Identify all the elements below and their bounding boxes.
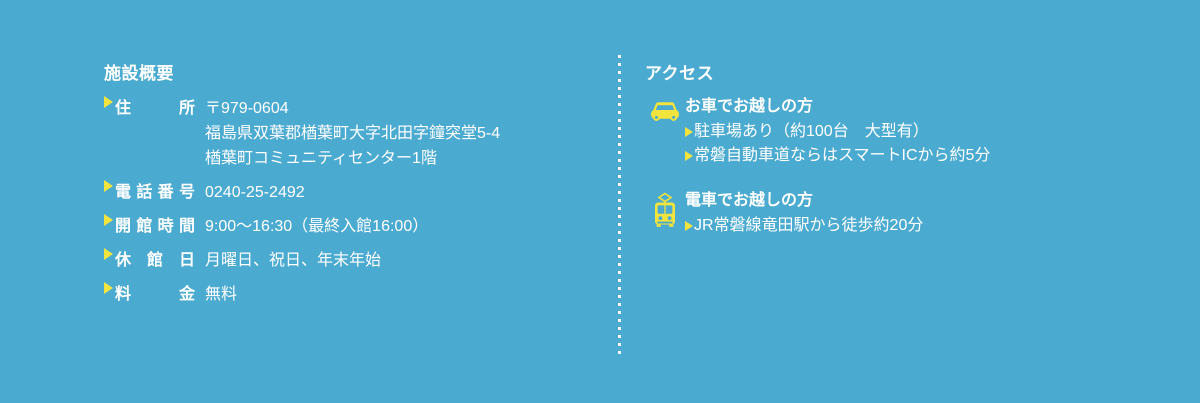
access-block-train: 電車でお越しの方 JR常磐線竜田駅から徒歩約20分: [645, 190, 1165, 238]
info-label-fee: 料 金: [115, 282, 195, 307]
bullet-triangle-icon: [104, 248, 113, 260]
info-panel: 施設概要 住 所 〒979-0604 福島県双葉郡楢葉町大字北田字鐘突堂5-4 …: [0, 0, 1200, 403]
access-body-car: お車でお越しの方 駐車場あり（約100台 大型有） 常磐自動車道ならはスマートI…: [685, 96, 1165, 168]
label-char: 休: [115, 248, 131, 273]
column-divider: [618, 55, 621, 355]
label-char: 開: [115, 214, 131, 239]
label-char: 日: [179, 248, 195, 273]
label-char: 料: [115, 282, 131, 307]
info-label-closed-days: 休 館 日: [115, 248, 195, 273]
access-item-label: JR常磐線竜田駅から徒歩約20分: [694, 214, 923, 238]
access-block-car: お車でお越しの方 駐車場あり（約100台 大型有） 常磐自動車道ならはスマートI…: [645, 96, 1165, 168]
access-body-train: 電車でお越しの方 JR常磐線竜田駅から徒歩約20分: [685, 190, 1165, 238]
label-char: 電: [115, 180, 131, 205]
info-label-hours: 開 館 時 間: [115, 214, 195, 239]
bullet-triangle-icon: [685, 221, 693, 231]
label-char: 間: [179, 214, 195, 239]
facility-overview-column: 施設概要 住 所 〒979-0604 福島県双葉郡楢葉町大字北田字鐘突堂5-4 …: [104, 64, 584, 316]
info-value-fee: 無料: [205, 282, 237, 307]
access-item-highway: 常磐自動車道ならはスマートICから約5分: [685, 144, 1165, 168]
bullet-triangle-icon: [104, 180, 113, 192]
label-char: 番: [158, 180, 174, 205]
access-heading-car: お車でお越しの方: [685, 96, 1165, 118]
access-column: アクセス お車でお越しの方 駐車場あり（約100台 大型有）: [645, 64, 1165, 260]
label-char: 金: [179, 282, 195, 307]
car-icon: [645, 96, 685, 138]
label-char: 話: [136, 180, 152, 205]
facility-section-title: 施設概要: [104, 64, 584, 84]
access-item-parking: 駐車場あり（約100台 大型有）: [685, 120, 1165, 144]
info-label-phone: 電 話 番 号: [115, 180, 195, 205]
info-row-hours: 開 館 時 間 9:00〜16:30（最終入館16:00）: [104, 214, 584, 239]
label-char: 所: [179, 96, 195, 121]
bullet-triangle-icon: [104, 96, 113, 108]
info-row-address: 住 所 〒979-0604 福島県双葉郡楢葉町大字北田字鐘突堂5-4 楢葉町コミ…: [104, 96, 584, 171]
address-line: 〒979-0604: [205, 96, 500, 121]
access-item-label: 駐車場あり（約100台 大型有）: [694, 120, 929, 144]
label-char: 館: [136, 214, 152, 239]
bullet-triangle-icon: [685, 151, 693, 161]
info-row-closed-days: 休 館 日 月曜日、祝日、年末年始: [104, 248, 584, 273]
address-line: 楢葉町コミュニティセンター1階: [205, 146, 500, 171]
info-value-address: 〒979-0604 福島県双葉郡楢葉町大字北田字鐘突堂5-4 楢葉町コミュニティ…: [205, 96, 500, 171]
info-label-address: 住 所: [115, 96, 195, 121]
label-char: 住: [115, 96, 131, 121]
label-char: 号: [179, 180, 195, 205]
info-value-closed-days: 月曜日、祝日、年末年始: [205, 248, 381, 273]
address-line: 福島県双葉郡楢葉町大字北田字鐘突堂5-4: [205, 121, 500, 146]
info-row-phone: 電 話 番 号 0240-25-2492: [104, 180, 584, 205]
access-item-station: JR常磐線竜田駅から徒歩約20分: [685, 214, 1165, 238]
bullet-triangle-icon: [104, 214, 113, 226]
info-value-phone: 0240-25-2492: [205, 180, 305, 205]
bullet-triangle-icon: [104, 282, 113, 294]
access-item-label: 常磐自動車道ならはスマートICから約5分: [694, 144, 990, 168]
access-heading-train: 電車でお越しの方: [685, 190, 1165, 212]
info-value-hours: 9:00〜16:30（最終入館16:00）: [205, 214, 428, 239]
label-char: 時: [158, 214, 174, 239]
train-icon: [645, 190, 685, 232]
info-row-fee: 料 金 無料: [104, 282, 584, 307]
access-section-title: アクセス: [645, 64, 1165, 84]
bullet-triangle-icon: [685, 127, 693, 137]
label-char: 館: [147, 248, 163, 273]
